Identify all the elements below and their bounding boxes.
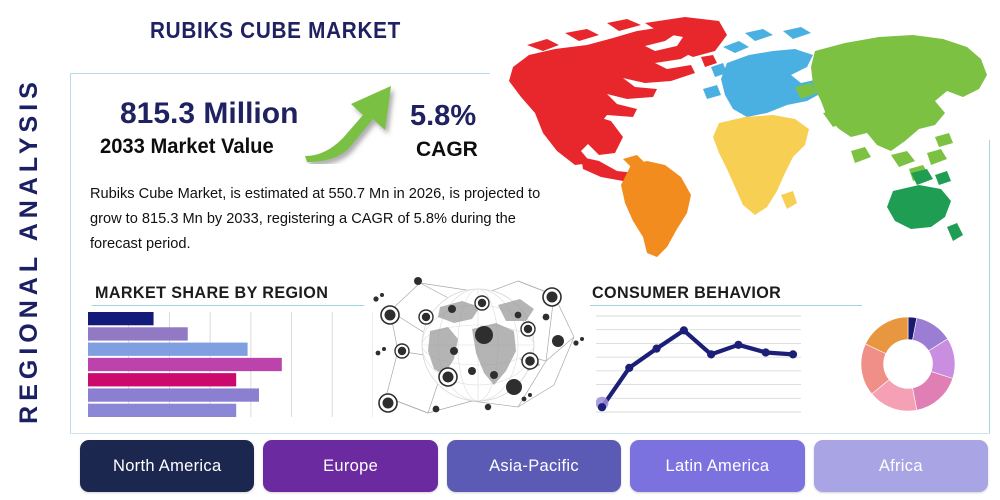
- consumer-behavior-heading: CONSUMER BEHAVIOR: [592, 283, 781, 303]
- page-title: RUBIKS CUBE MARKET: [150, 17, 401, 44]
- region-button-label: Europe: [323, 457, 378, 476]
- panel-border-top: [70, 73, 490, 74]
- bar-segment: [88, 327, 188, 340]
- line-marker: [652, 345, 660, 353]
- region-button-row: North AmericaEuropeAsia-PacificLatin Ame…: [80, 440, 988, 492]
- line-marker: [789, 350, 797, 358]
- market-value-figure: 815.3 Million: [120, 97, 298, 131]
- market-share-by-region-bar-chart: [88, 312, 373, 417]
- line-marker: [680, 326, 688, 334]
- map-region-asia: [795, 35, 987, 181]
- world-map-graphic: [495, 5, 995, 260]
- bar-segment: [88, 373, 236, 386]
- region-button-europe[interactable]: Europe: [263, 440, 437, 492]
- market-share-heading: MARKET SHARE BY REGION: [95, 283, 328, 303]
- bar-segment: [88, 358, 282, 371]
- consumer-behavior-line-chart: [596, 310, 801, 418]
- global-network-globe-icon: [368, 265, 588, 423]
- region-button-north-america[interactable]: North America: [80, 440, 254, 492]
- map-region-africa: [713, 115, 809, 215]
- panel-border-bottom: [70, 433, 990, 434]
- region-button-label: Latin America: [665, 457, 769, 476]
- line-marker: [707, 350, 715, 358]
- map-region-south-america: [621, 155, 691, 257]
- region-button-label: Africa: [879, 457, 923, 476]
- line-marker: [625, 364, 633, 372]
- region-button-asia-pacific[interactable]: Asia-Pacific: [447, 440, 621, 492]
- regional-distribution-donut-chart: [852, 308, 964, 420]
- line-marker: [762, 348, 770, 356]
- map-region-north-america: [509, 17, 727, 187]
- region-button-latin-america[interactable]: Latin America: [630, 440, 804, 492]
- donut-segment: [913, 372, 953, 411]
- region-button-label: Asia-Pacific: [489, 457, 579, 476]
- bar-segment: [88, 343, 248, 356]
- market-value-label: 2033 Market Value: [100, 135, 274, 159]
- cagr-label: CAGR: [416, 138, 478, 162]
- line-marker: [598, 403, 606, 411]
- cagr-figure: 5.8%: [410, 100, 476, 133]
- region-button-label: North America: [113, 457, 221, 476]
- vertical-section-label: REGIONAL ANALYSIS: [0, 0, 60, 500]
- map-region-oceania: [887, 169, 963, 241]
- market-share-heading-rule: [92, 305, 364, 306]
- infographic-root: REGIONAL ANALYSIS RUBIKS CUBE MARKET 815…: [0, 0, 1000, 500]
- region-button-africa[interactable]: Africa: [814, 440, 988, 492]
- bar-segment: [88, 388, 259, 401]
- bar-segment: [88, 312, 154, 325]
- consumer-behavior-heading-rule: [590, 305, 862, 306]
- growth-arrow-up-icon: [305, 82, 405, 164]
- bar-segment: [88, 404, 236, 417]
- vertical-section-label-text: REGIONAL ANALYSIS: [15, 77, 44, 424]
- market-description: Rubiks Cube Market, is estimated at 550.…: [90, 182, 560, 257]
- line-marker: [734, 341, 742, 349]
- panel-border-left: [70, 73, 71, 433]
